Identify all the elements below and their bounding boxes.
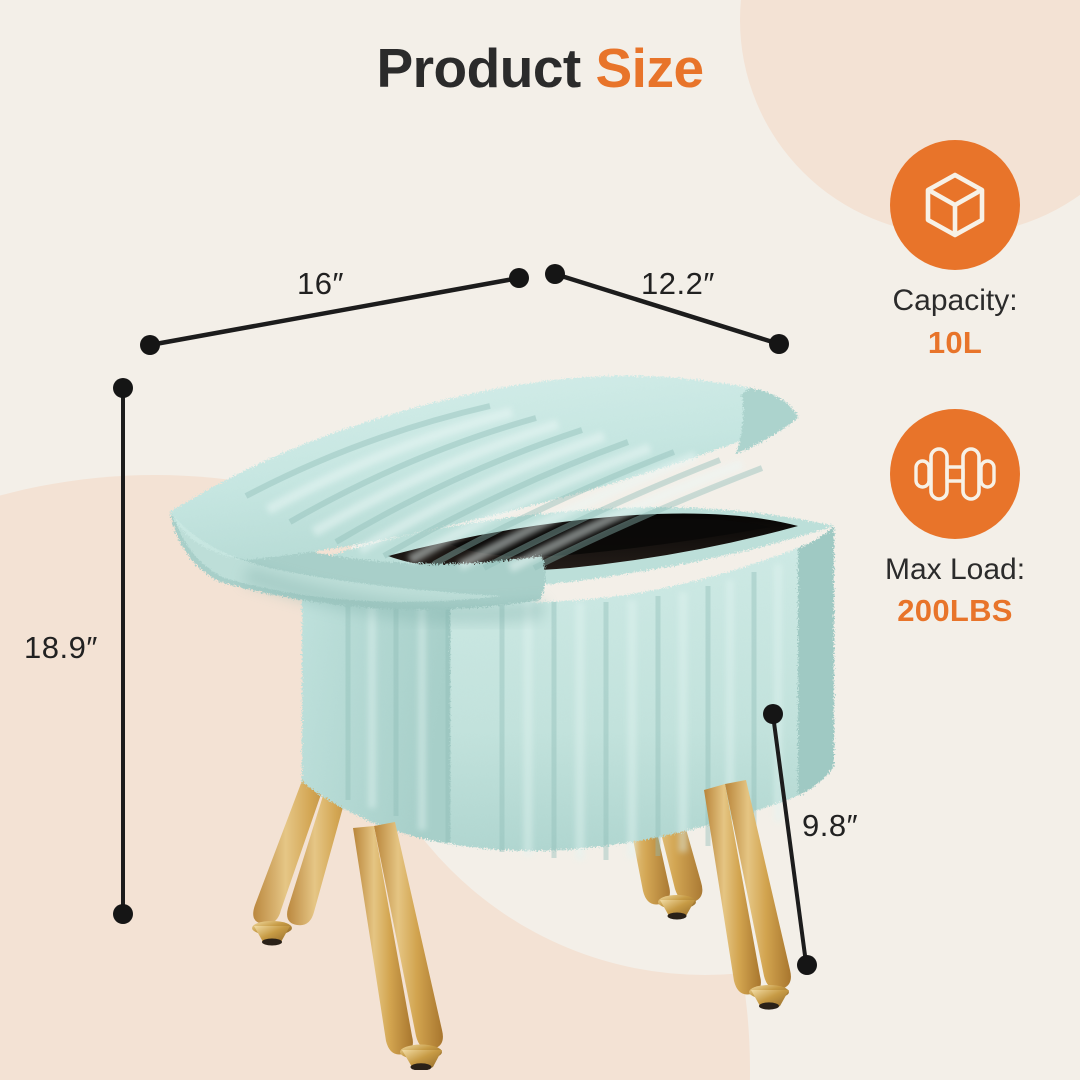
max-load-label: Max Load: — [885, 553, 1025, 588]
capacity-label: Capacity: — [892, 284, 1017, 319]
page-title-main: Product — [376, 37, 580, 99]
page-title: Product Size — [0, 36, 1080, 100]
dimension-label-depth: 12.2″ — [641, 266, 715, 302]
feature-list: Capacity: 10L Max Load: 200LBS — [830, 140, 1080, 629]
capacity-badge — [890, 140, 1020, 270]
page-title-accent: Size — [596, 37, 704, 99]
cube-box-icon — [918, 168, 992, 242]
product-image-ottoman — [150, 330, 850, 1070]
max-load-badge — [890, 409, 1020, 539]
capacity-value: 10L — [928, 325, 982, 361]
dimension-label-width: 16″ — [297, 266, 344, 302]
infographic-canvas: Product Size — [0, 0, 1080, 1080]
dumbbell-icon — [914, 443, 996, 505]
max-load-value: 200LBS — [897, 593, 1013, 629]
dimension-label-height: 18.9″ — [24, 630, 98, 666]
feature-capacity: Capacity: 10L — [830, 140, 1080, 361]
feature-max-load: Max Load: 200LBS — [830, 409, 1080, 630]
